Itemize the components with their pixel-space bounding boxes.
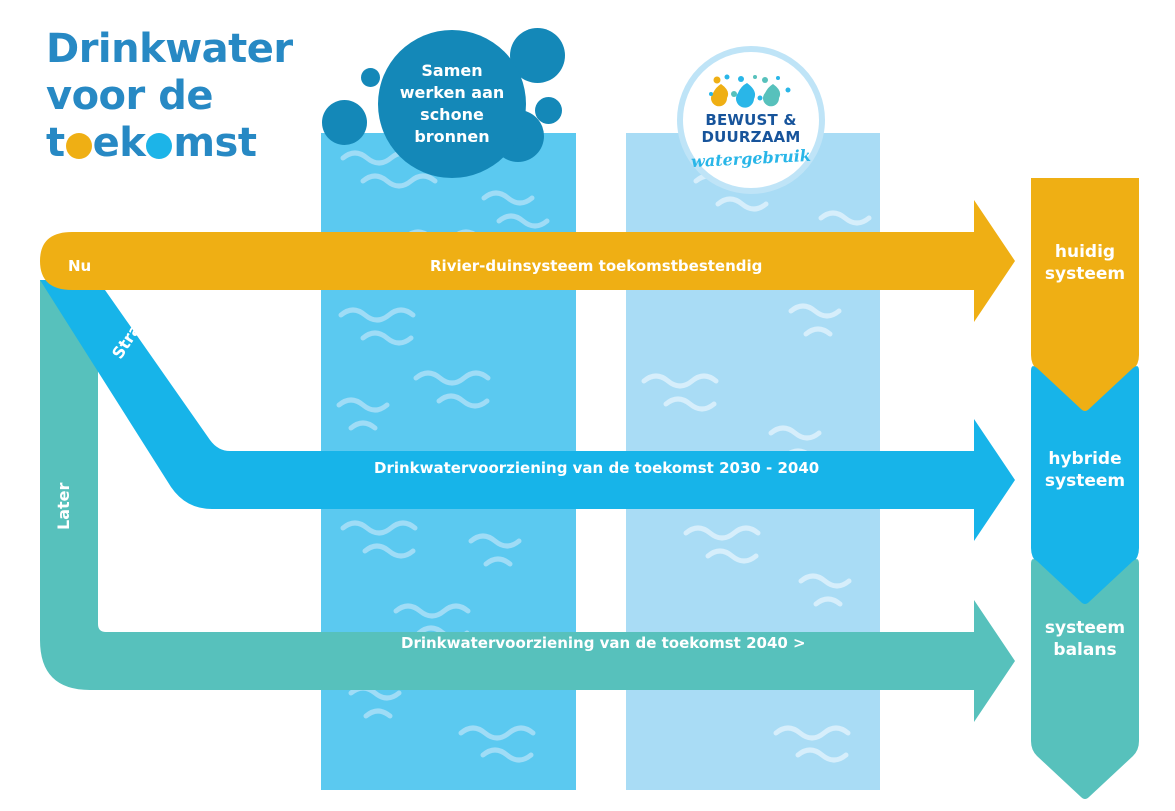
stack-label-hybride: hybride systeem (1025, 448, 1145, 492)
stack-label-huidig: huidig systeem (1025, 241, 1145, 285)
brand-logo: Drinkwater voor de tekmst (46, 26, 316, 166)
badge-bewust-duurzaam: BEWUST & DUURZAAM watergebruik (677, 46, 825, 194)
logo-line-3: tekmst (46, 120, 316, 167)
logo-text-ek: ek (93, 120, 146, 166)
logo-text-mst: mst (173, 120, 256, 166)
flow-band-soon (40, 280, 1015, 541)
logo-text-t: t (46, 120, 65, 166)
callout-line-3: schone (400, 104, 505, 126)
stack-label-huidig-line1: huidig (1025, 241, 1145, 263)
arrow-label-soon: Drinkwatervoorziening van de toekomst 20… (374, 459, 819, 477)
badge-script-text: watergebruik (691, 146, 812, 171)
callout-line-4: bronnen (400, 126, 505, 148)
bubble-medium-icon (322, 100, 367, 145)
callout-line-2: werken aan (400, 82, 505, 104)
arrow-label-now: Rivier-duinsysteem toekomstbestendig (430, 257, 762, 275)
phase-label-now: Nu (68, 257, 91, 275)
orange-circle-icon (66, 133, 92, 159)
arrow-label-later: Drinkwatervoorziening van de toekomst 20… (401, 634, 806, 652)
water-droplets-icon (703, 74, 799, 108)
bubble-small-icon (361, 68, 380, 87)
stack-label-balans-line2: balans (1025, 639, 1145, 661)
stack-label-hybride-line1: hybride (1025, 448, 1145, 470)
logo-line-2: voor de (46, 73, 316, 120)
logo-line-1: Drinkwater (46, 26, 316, 73)
phase-label-later: Later (54, 483, 73, 530)
stack-label-hybride-line2: systeem (1025, 470, 1145, 492)
badge-line-1: BEWUST & (705, 112, 796, 129)
stack-label-huidig-line2: systeem (1025, 263, 1145, 285)
stack-label-balans: systeem balans (1025, 617, 1145, 661)
cyan-circle-icon (146, 133, 172, 159)
callout-samen-werken: Samen werken aan schone bronnen (378, 30, 526, 178)
callout-line-1: Samen (400, 60, 505, 82)
stack-label-balans-line1: systeem (1025, 617, 1145, 639)
infographic-canvas: Drinkwater voor de tekmst Samen werken a… (0, 0, 1175, 811)
badge-line-2: DUURZAAM (702, 129, 801, 146)
